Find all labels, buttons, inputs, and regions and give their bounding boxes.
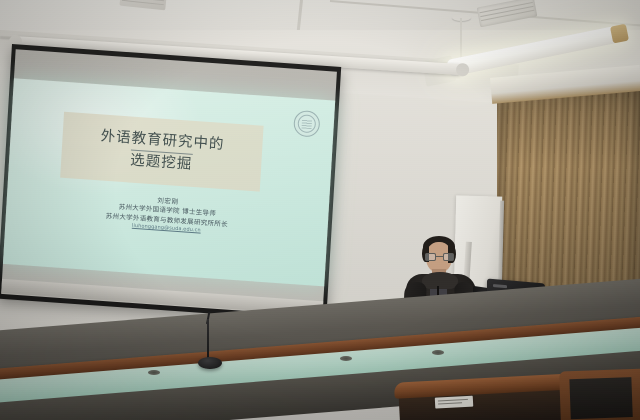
microphone-gooseneck [207,319,209,359]
foreground-chair-right[interactable] [559,368,640,420]
eyeglasses-icon [425,253,454,261]
projection-screen: 外语教育研究中的 选题挖掘 刘宏刚 苏州大学外国语学院 博士生导师 苏州大学外语… [0,44,341,322]
monitor-brand-logo [493,284,507,288]
table-grommet [432,350,444,355]
seal-inner-marks [302,119,313,129]
lecture-room-photo: 外语教育研究中的 选题挖掘 刘宏刚 苏州大学外国语学院 博士生导师 苏州大学外语… [0,0,640,420]
slide-subtitle-block: 刘宏刚 苏州大学外国语学院 博士生导师 苏州大学外语教育与教师发展研究所所长 l… [5,186,328,244]
foreground-chair[interactable] [394,373,576,420]
ceiling-vent-secondary-icon [119,0,166,10]
coat-collar [422,272,458,289]
table-grommet [148,370,160,375]
ceiling-vent-icon [477,0,538,27]
slide-title-line-2: 选题挖掘 [130,149,193,174]
microphone-base[interactable] [198,357,222,369]
university-seal-icon [293,110,320,138]
lens-right [443,253,454,261]
foreground-chair-right-pad [569,377,632,419]
slide-title: 外语教育研究中的 选题挖掘 [60,112,263,192]
light-end-cap [610,24,629,44]
chair-asset-label [435,396,474,409]
lens-left [425,253,436,261]
presentation-slide: 外语教育研究中的 选题挖掘 刘宏刚 苏州大学外国语学院 博士生导师 苏州大学外语… [3,78,335,286]
glasses-bridge [436,256,443,257]
table-grommet [340,356,352,361]
